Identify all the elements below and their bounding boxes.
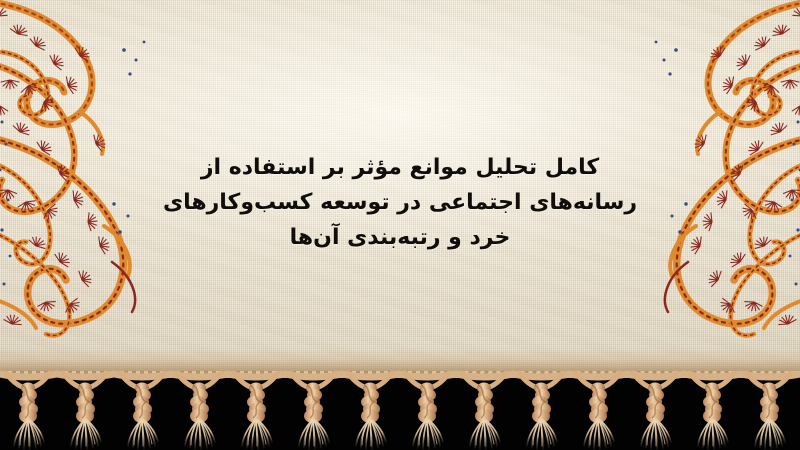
title-card-canvas: کامل تحلیل موانع مؤثر بر استفاده از رسان… [0, 0, 800, 450]
tassel-fringe [0, 370, 800, 450]
title-line-1: کامل تحلیل موانع مؤثر بر استفاده از [160, 150, 640, 185]
title-line-3: خرد و رتبه‌بندی آن‌ها [160, 220, 640, 255]
title-line-2: رسانه‌های اجتماعی در توسعه کسب‌وکارهای [160, 185, 640, 220]
title-block: کامل تحلیل موانع مؤثر بر استفاده از رسان… [0, 150, 800, 255]
